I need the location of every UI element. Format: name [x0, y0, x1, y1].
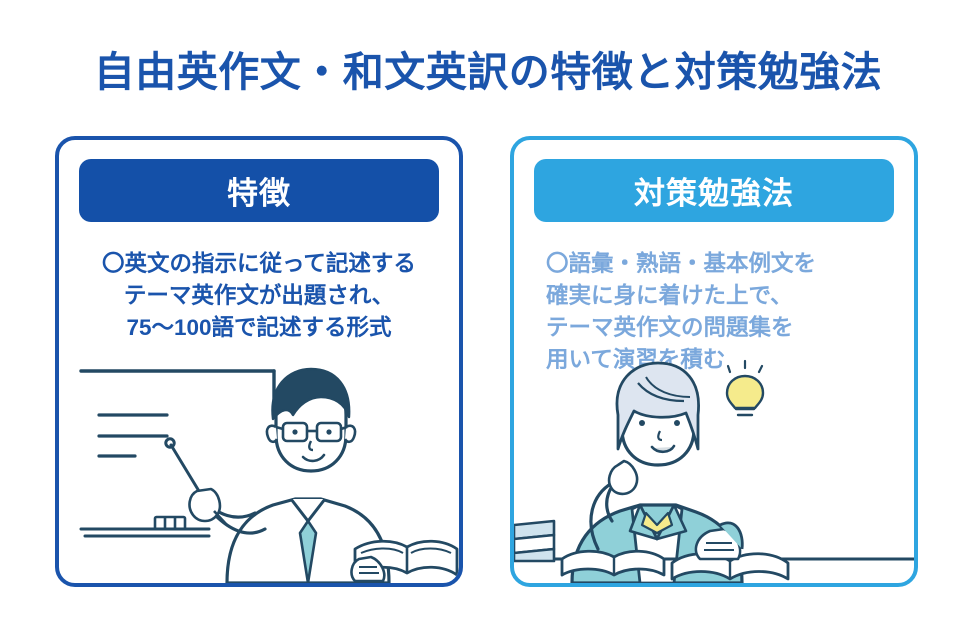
card-study: 対策勉強法 〇語彙・熟語・基本例文を 確実に身に着けた上で、 テーマ英作文の問題… — [510, 136, 918, 587]
student-studying-with-idea-bulb-illustration — [514, 353, 914, 583]
card-features: 特徴 〇英文の指示に従って記述する テーマ英作文が出題され、 75〜100語で記… — [55, 136, 463, 587]
page-title: 自由英作文・和文英訳の特徴と対策勉強法 — [0, 48, 976, 97]
card-features-body-text: 〇英文の指示に従って記述する テーマ英作文が出題され、 75〜100語で記述する… — [73, 248, 445, 344]
card-study-header: 対策勉強法 — [534, 159, 894, 222]
teacher-pointing-at-whiteboard-illustration — [59, 353, 459, 583]
lightbulb-icon — [727, 361, 763, 415]
card-features-header: 特徴 — [79, 159, 439, 222]
